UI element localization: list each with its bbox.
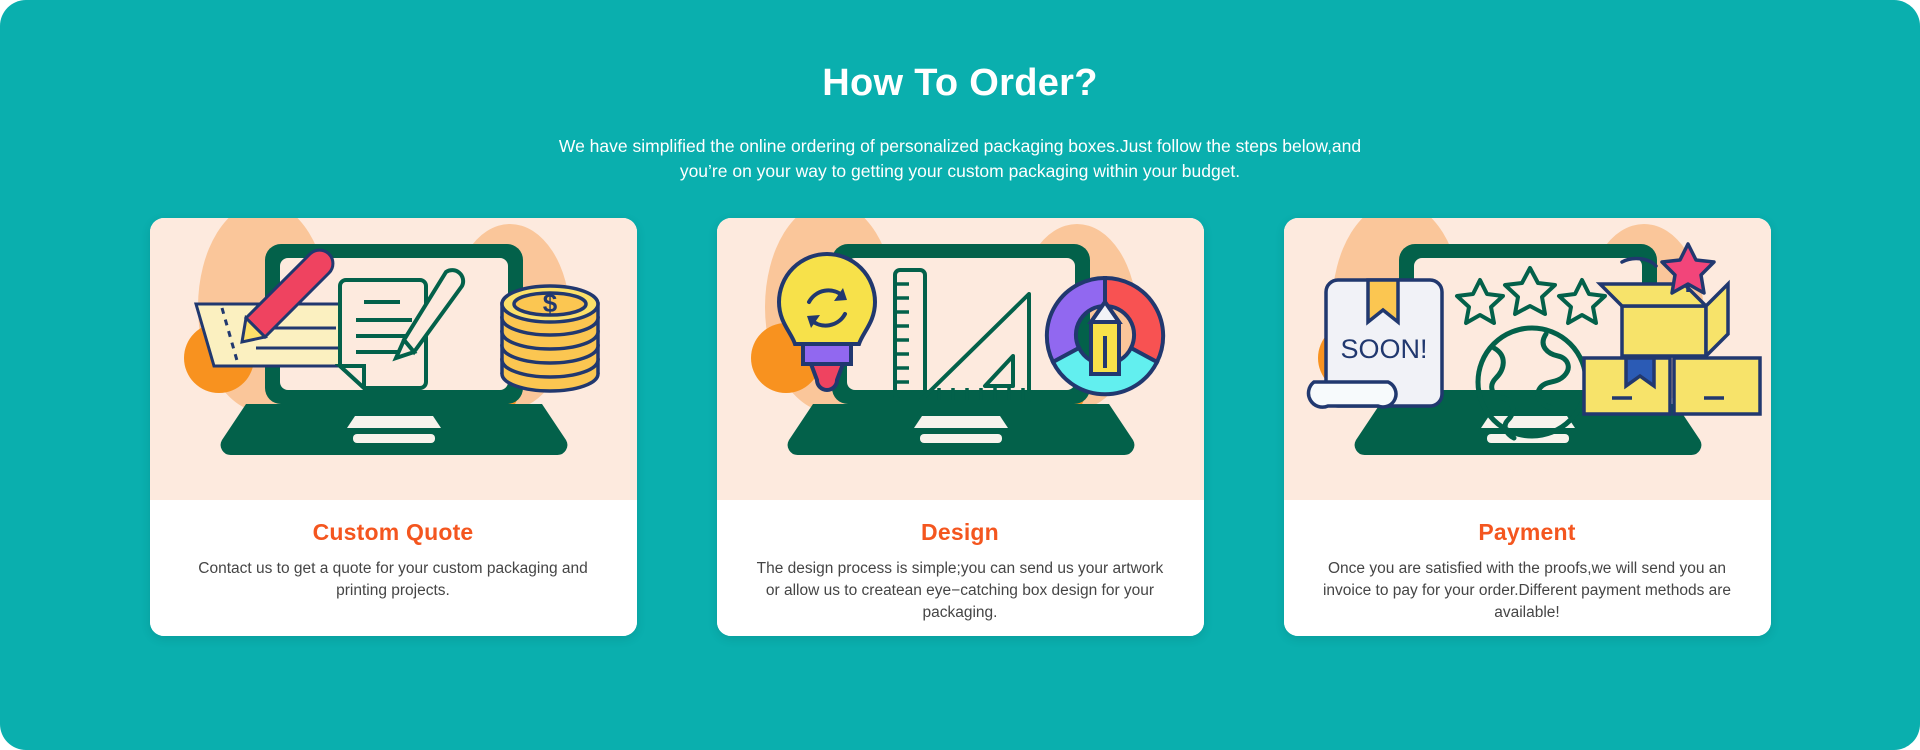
illustration-design (717, 218, 1204, 500)
card-body-payment: Payment Once you are satisfied with the … (1284, 500, 1771, 636)
card-description: Contact us to get a quote for your custo… (184, 558, 603, 602)
svg-text:$: $ (542, 288, 557, 318)
laptop-check-document-coins-svg: $ (150, 218, 637, 500)
steps-card-list: $ Custom Quote Contact us to get a quote… (0, 218, 1920, 636)
step-card-custom-quote[interactable]: $ Custom Quote Contact us to get a quote… (150, 218, 637, 636)
subtitle-line-1: We have simplified the online ordering o… (559, 136, 1361, 156)
laptop-soon-globe-boxes-svg: SOON! (1284, 218, 1771, 500)
subtitle-line-2: you’re on your way to getting your custo… (680, 161, 1240, 181)
card-body-custom-quote: Custom Quote Contact us to get a quote f… (150, 500, 637, 636)
how-to-order-section: How To Order? We have simplified the onl… (0, 0, 1920, 750)
page-subtitle: We have simplified the online ordering o… (545, 134, 1375, 184)
card-title: Payment (1318, 519, 1737, 546)
laptop-lightbulb-rulers-colorwheel-svg (717, 218, 1204, 500)
step-card-payment[interactable]: SOON! (1284, 218, 1771, 636)
illustration-custom-quote: $ (150, 218, 637, 500)
card-title: Design (751, 519, 1170, 546)
card-body-design: Design The design process is simple;you … (717, 500, 1204, 636)
step-card-design[interactable]: Design The design process is simple;you … (717, 218, 1204, 636)
page-title: How To Order? (0, 62, 1920, 105)
card-description: Once you are satisfied with the proofs,w… (1318, 558, 1737, 624)
soon-label: SOON! (1340, 334, 1427, 364)
card-title: Custom Quote (184, 519, 603, 546)
card-description: The design process is simple;you can sen… (751, 558, 1170, 624)
illustration-payment: SOON! (1284, 218, 1771, 500)
